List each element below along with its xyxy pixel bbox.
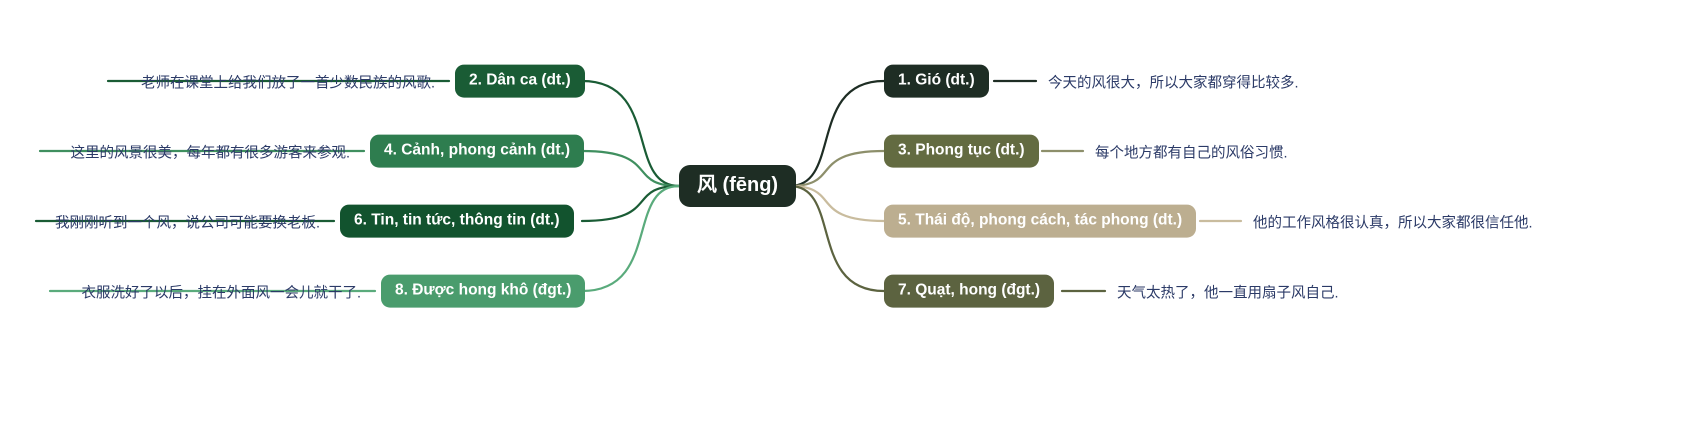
- connector-curve-5: [790, 186, 884, 221]
- example-sentence-7: 天气太热了，他一直用扇子风自己.: [1117, 282, 1339, 303]
- branch-node-1[interactable]: 1. Gió (dt.): [884, 65, 989, 98]
- example-sentence-6: 我刚刚听到一个风，说公司可能要换老板.: [55, 212, 320, 233]
- branch-label: 1. Gió (dt.): [898, 72, 975, 89]
- center-hanzi: 风: [697, 174, 717, 196]
- branch-node-8[interactable]: 8. Được hong khô (đgt.): [381, 275, 585, 308]
- example-sentence-3: 每个地方都有自己的风俗习惯.: [1095, 142, 1288, 163]
- branch-node-3[interactable]: 3. Phong tục (dt.): [884, 135, 1039, 168]
- branch-node-6[interactable]: 6. Tin, tin tức, thông tin (dt.): [340, 205, 574, 238]
- branch-label: 8. Được hong khô (đgt.): [395, 282, 571, 299]
- example-sentence-8: 衣服洗好了以后，挂在外面风一会儿就干了.: [81, 282, 361, 303]
- connector-curve-4: [582, 151, 679, 186]
- branch-label: 7. Quạt, hong (đgt.): [898, 282, 1040, 299]
- example-sentence-2: 老师在课堂上给我们放了一首少数民族的风歌.: [141, 72, 435, 93]
- example-sentence-4: 这里的风景很美，每年都有很多游客来参观.: [70, 142, 350, 163]
- connector-curve-6: [582, 186, 679, 221]
- connector-curve-7: [790, 186, 884, 291]
- center-pinyin: (fēng): [717, 174, 778, 196]
- branch-label: 4. Cảnh, phong cảnh (dt.): [384, 142, 570, 159]
- connector-curve-2: [582, 81, 679, 186]
- example-sentence-1: 今天的风很大，所以大家都穿得比较多.: [1048, 72, 1299, 93]
- mindmap-canvas: 风 (fēng)1. Gió (dt.)今天的风很大，所以大家都穿得比较多.2.…: [0, 0, 1703, 438]
- connector-curve-3: [790, 151, 884, 186]
- branch-label: 5. Thái độ, phong cách, tác phong (dt.): [898, 212, 1182, 229]
- branch-node-5[interactable]: 5. Thái độ, phong cách, tác phong (dt.): [884, 205, 1196, 238]
- center-node[interactable]: 风 (fēng): [679, 165, 796, 207]
- connector-curve-8: [582, 186, 679, 291]
- branch-node-2[interactable]: 2. Dân ca (dt.): [455, 65, 585, 98]
- branch-label: 3. Phong tục (dt.): [898, 142, 1025, 159]
- branch-label: 6. Tin, tin tức, thông tin (dt.): [354, 212, 560, 229]
- branch-node-7[interactable]: 7. Quạt, hong (đgt.): [884, 275, 1054, 308]
- example-sentence-5: 他的工作风格很认真，所以大家都很信任他.: [1253, 212, 1533, 233]
- branch-label: 2. Dân ca (dt.): [469, 72, 571, 89]
- connector-curve-1: [790, 81, 884, 186]
- branch-node-4[interactable]: 4. Cảnh, phong cảnh (dt.): [370, 135, 584, 168]
